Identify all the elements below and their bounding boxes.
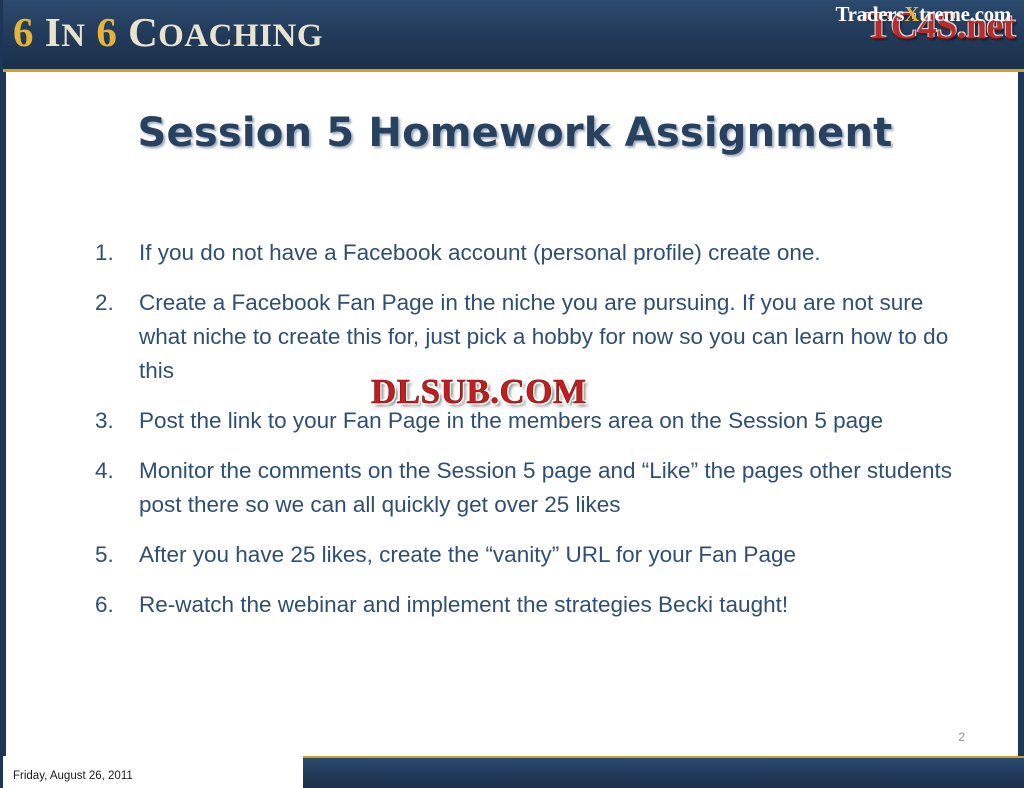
list-item-number: 5.: [95, 538, 139, 572]
list-item: 5. After you have 25 likes, create the “…: [95, 538, 975, 572]
list-item-number: 3.: [95, 404, 139, 438]
list-item-number: 1.: [95, 236, 139, 270]
footer-brand-accent: X: [904, 2, 919, 26]
page-number: 2: [958, 730, 965, 744]
footer-brand-prefix: Traders: [836, 2, 905, 26]
watermark-overlay: DLSUB.COM: [371, 372, 587, 412]
tradersxtreme-logo: TradersXtreme.com: [836, 2, 1011, 27]
list-item-text: If you do not have a Facebook account (p…: [139, 236, 975, 270]
list-item-number: 4.: [95, 454, 139, 488]
list-item-number: 6.: [95, 588, 139, 622]
page-title: Session 5 Homework Assignment: [3, 110, 1024, 156]
left-border: [3, 72, 6, 756]
slide-canvas: 6 IN 6 COACHING TC4S.net Session 5 Homew…: [0, 0, 1024, 788]
list-item-text: Monitor the comments on the Session 5 pa…: [139, 454, 975, 522]
list-item-text: Re-watch the webinar and implement the s…: [139, 588, 975, 622]
list-item: 1. If you do not have a Facebook account…: [95, 236, 975, 270]
list-item-text: After you have 25 likes, create the “van…: [139, 538, 975, 572]
list-item: 4. Monitor the comments on the Session 5…: [95, 454, 975, 522]
footer-brand-suffix: treme.com: [919, 2, 1011, 26]
homework-list: 1. If you do not have a Facebook account…: [95, 236, 975, 638]
list-item-number: 2.: [95, 286, 139, 320]
footer-date: Friday, August 26, 2011: [13, 770, 133, 782]
course-title: 6 IN 6 COACHING: [13, 8, 323, 56]
right-border: [1018, 72, 1021, 756]
list-item: 6. Re-watch the webinar and implement th…: [95, 588, 975, 622]
